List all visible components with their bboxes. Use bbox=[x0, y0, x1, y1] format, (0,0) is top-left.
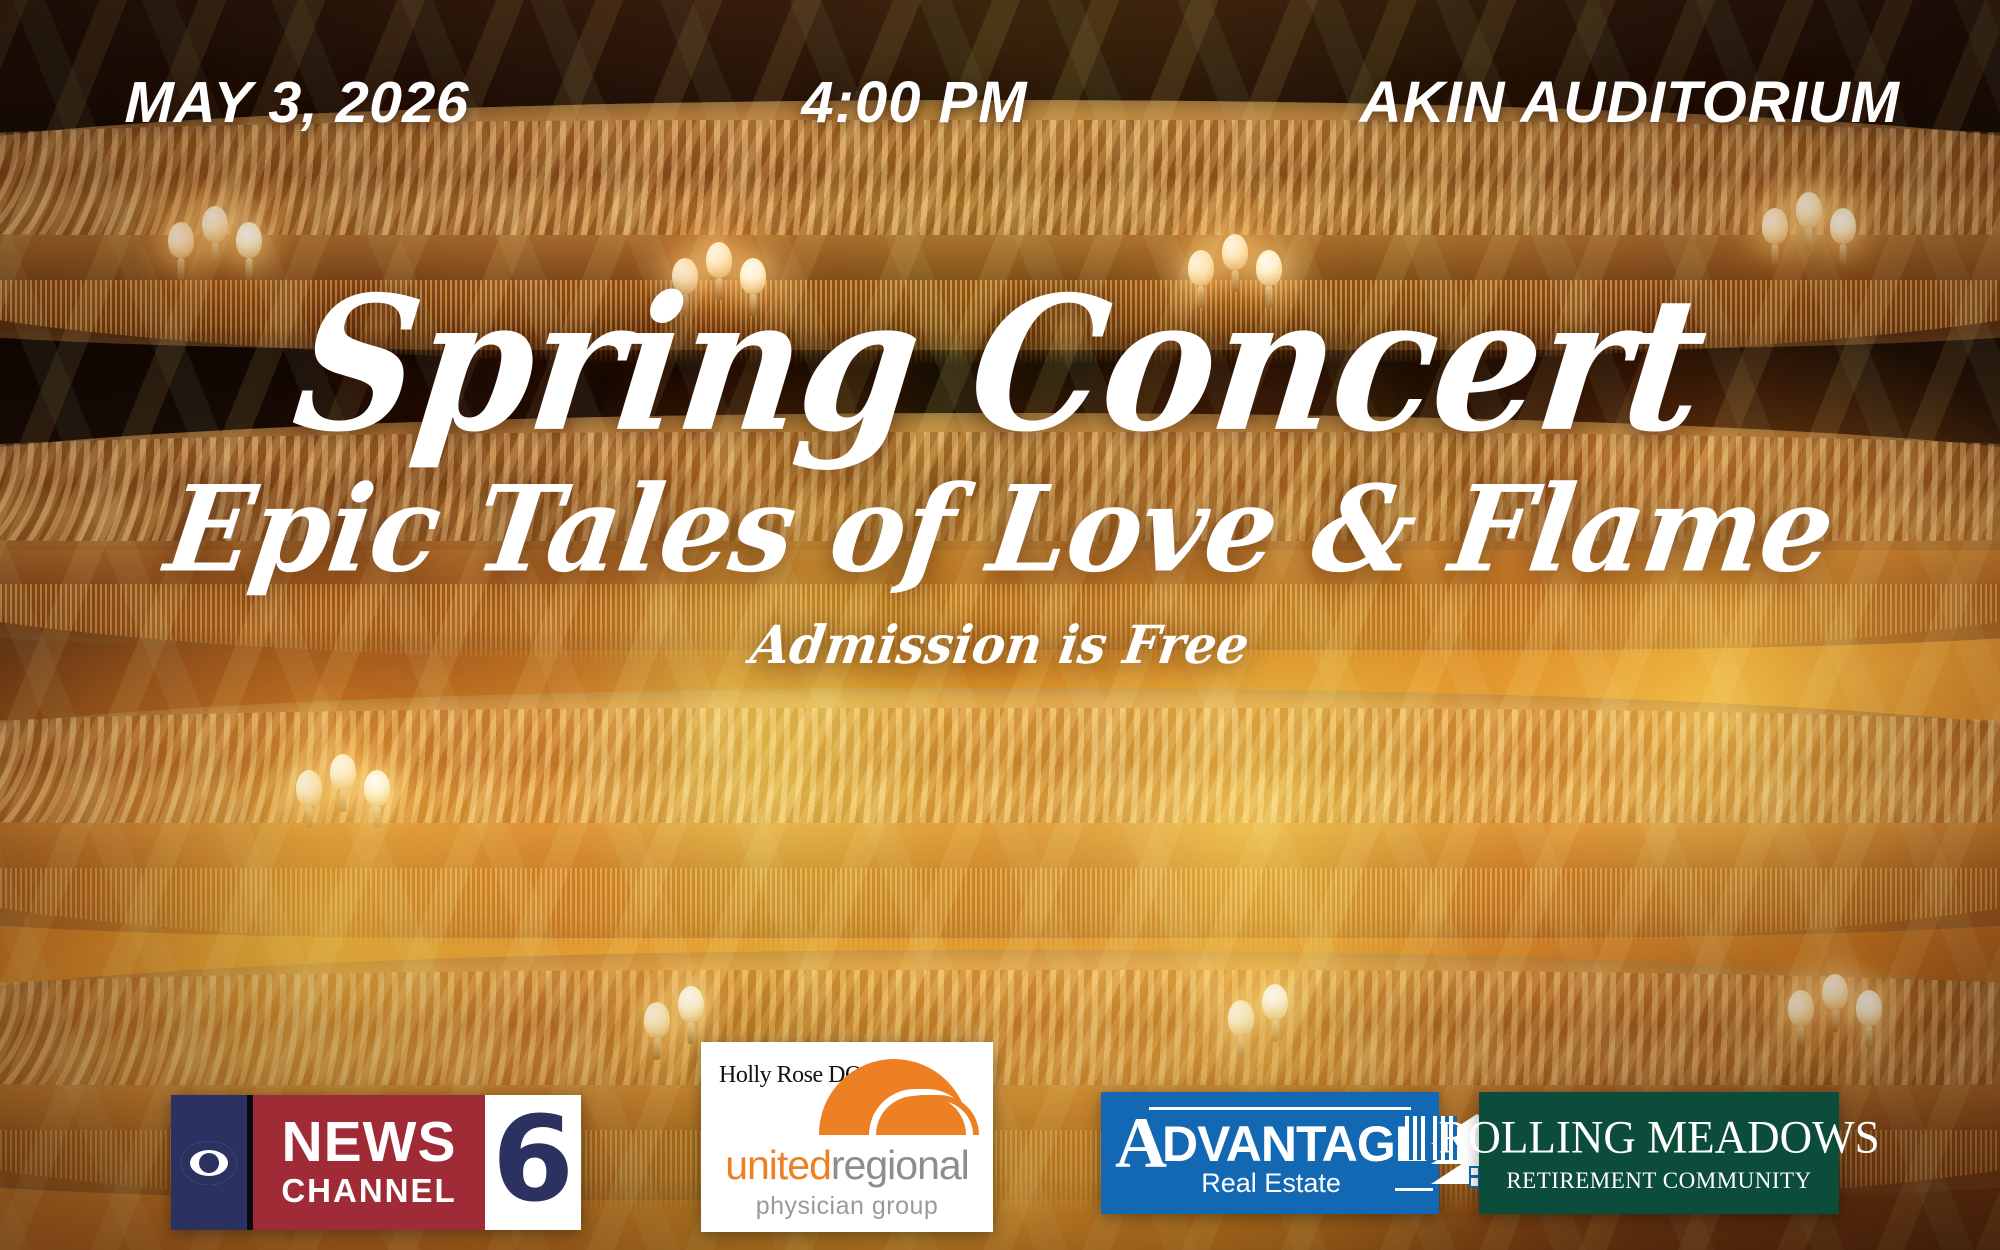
event-details-header: MAY 3, 2026 4:00 PM AKIN AUDITORIUM bbox=[0, 74, 2000, 132]
advantage-initial: A bbox=[1115, 1118, 1166, 1170]
admission-notice: Admission is Free bbox=[0, 619, 2000, 672]
advantage-wordmark: ADVANTAGE Real Estate bbox=[1113, 1107, 1427, 1199]
united-word: united bbox=[725, 1142, 831, 1188]
concert-poster: MAY 3, 2026 4:00 PM AKIN AUDITORIUM Spri… bbox=[0, 0, 2000, 1250]
sunrise-dome-icon bbox=[805, 1061, 977, 1135]
advantage-rest: DVANTAGE bbox=[1162, 1121, 1427, 1167]
retirement-community-label: RETIREMENT COMMUNITY bbox=[1506, 1169, 1811, 1192]
event-time: 4:00 PM bbox=[801, 74, 1027, 132]
concert-title: Spring Concert bbox=[0, 272, 2000, 457]
event-venue: AKIN AUDITORIUM bbox=[1360, 74, 1900, 132]
event-date: MAY 3, 2026 bbox=[124, 74, 470, 132]
united-regional-wordmark: unitedregional bbox=[717, 1145, 977, 1186]
channel-label: CHANNEL bbox=[281, 1174, 456, 1207]
sponsor-logo-rolling-meadows[interactable]: ROLLING MEADOWS RETIREMENT COMMUNITY bbox=[1479, 1092, 1839, 1214]
news-label: NEWS bbox=[282, 1116, 457, 1170]
sponsor-logo-news-channel-6[interactable]: NEWS CHANNEL 6 bbox=[171, 1095, 581, 1230]
title-block: Spring Concert Epic Tales of Love & Flam… bbox=[0, 280, 2000, 670]
regional-word: regional bbox=[831, 1142, 969, 1188]
news-channel-wordmark: NEWS CHANNEL bbox=[253, 1095, 485, 1230]
physician-group-tagline: physician group bbox=[717, 1192, 977, 1221]
rolling-meadows-name: ROLLING MEADOWS bbox=[1438, 1114, 1879, 1161]
cbs-eye-icon bbox=[181, 1141, 237, 1185]
cbs-eye-panel bbox=[171, 1095, 253, 1230]
concert-subtitle: Epic Tales of Love & Flame bbox=[0, 471, 2000, 590]
channel-number: 6 bbox=[485, 1095, 581, 1230]
sponsor-logo-united-regional[interactable]: Holly Rose DO unitedregional physician g… bbox=[701, 1042, 993, 1232]
sponsor-logo-strip: NEWS CHANNEL 6 Holly Rose DO unitedregio… bbox=[0, 1042, 2000, 1232]
advantage-top-rule bbox=[1149, 1107, 1411, 1110]
real-estate-label: Real Estate bbox=[1115, 1168, 1427, 1199]
advantage-name: ADVANTAGE bbox=[1115, 1112, 1427, 1167]
sponsor-logo-advantage-real-estate[interactable]: ADVANTAGE Real Estate bbox=[1101, 1092, 1439, 1214]
